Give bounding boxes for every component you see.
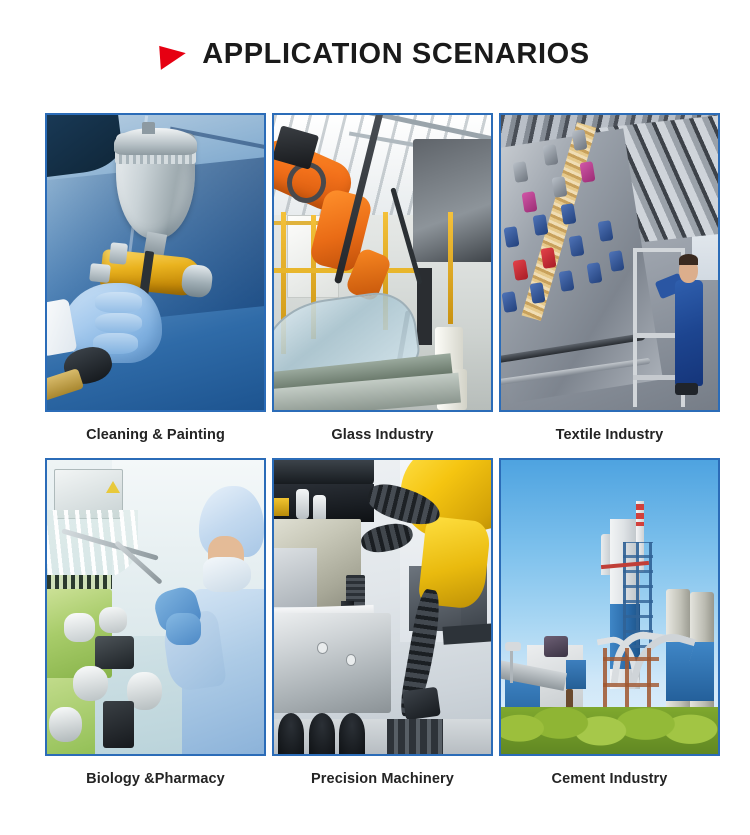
scenario-image-biology-pharmacy [45,458,266,756]
red-triangle-icon [159,44,187,70]
scenario-caption: Cement Industry [499,756,720,802]
scenario-card-glass-industry[interactable]: Glass Industry [272,113,493,458]
scenario-card-cement-industry[interactable]: Cement Industry [499,458,720,802]
scenario-caption: Precision Machinery [272,756,493,802]
scenario-card-textile-industry[interactable]: Textile Industry [499,113,720,458]
scenario-caption: Biology &Pharmacy [45,756,266,802]
page-title: APPLICATION SCENARIOS [202,38,589,71]
scenario-image-precision-machinery [272,458,493,756]
scenario-image-cleaning-painting [45,113,266,412]
scenario-image-cement-industry [499,458,720,756]
scenario-image-textile-industry [499,113,720,412]
application-scenarios-page: APPLICATION SCENARIOS [0,0,750,835]
scenario-grid: Cleaning & Painting [45,113,720,802]
scenario-card-cleaning-painting[interactable]: Cleaning & Painting [45,113,266,458]
scenario-caption: Textile Industry [499,412,720,458]
page-header: APPLICATION SCENARIOS [0,38,750,71]
scenario-card-precision-machinery[interactable]: Precision Machinery [272,458,493,802]
scenario-caption: Glass Industry [272,412,493,458]
scenario-caption: Cleaning & Painting [45,412,266,458]
scenario-image-glass-industry [272,113,493,412]
scenario-card-biology-pharmacy[interactable]: Biology &Pharmacy [45,458,266,802]
